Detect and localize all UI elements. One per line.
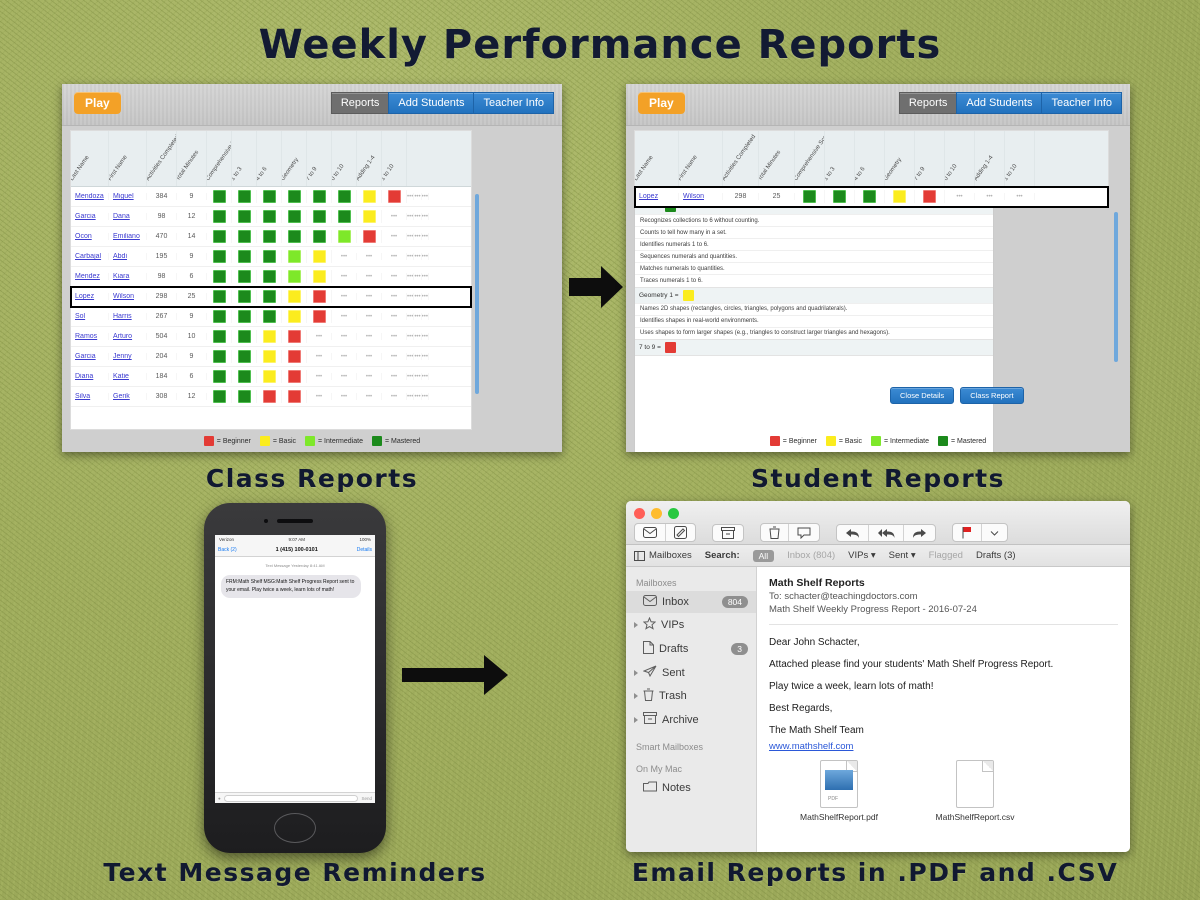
cell-activities: 267 — [147, 313, 177, 320]
column-header-5[interactable]: 1 to 3 — [232, 131, 257, 186]
column-header-8[interactable]: 7 to 9 — [915, 131, 945, 186]
arrow-right-2 — [400, 650, 510, 700]
play-button-2[interactable]: Play — [638, 92, 685, 114]
status-square — [288, 350, 301, 363]
column-header-8[interactable]: 7 to 9 — [307, 131, 332, 186]
skill-cell[interactable]: ••• — [414, 393, 421, 400]
skill-cell[interactable] — [282, 350, 307, 363]
skill-cell[interactable]: ••• — [422, 233, 429, 240]
skill-cell[interactable] — [232, 330, 257, 343]
table-row[interactable]: DianaKatie1846••••••••••••••••••••• — [71, 367, 471, 387]
status-square — [213, 310, 226, 323]
cell-first: Dana — [109, 213, 147, 220]
status-square — [313, 290, 326, 303]
skill-cell[interactable] — [232, 230, 257, 243]
skill-cell[interactable] — [282, 330, 307, 343]
skill-cell[interactable] — [257, 290, 282, 303]
status-square — [313, 190, 326, 203]
nav-add-students[interactable]: Add Students — [388, 92, 473, 114]
skill-cell[interactable] — [232, 250, 257, 263]
skill-cell[interactable] — [257, 350, 282, 363]
skill-cell[interactable]: ••• — [975, 193, 1005, 200]
skill-cell[interactable] — [207, 190, 232, 203]
skill-cell[interactable]: ••• — [422, 333, 429, 340]
skill-cell[interactable] — [282, 250, 307, 263]
nav-reports-2[interactable]: Reports — [899, 92, 957, 114]
mail-toolbar-buttons — [634, 523, 1008, 542]
skill-cell[interactable] — [307, 250, 332, 263]
compose-icon[interactable] — [666, 524, 695, 541]
message-to: To: schacter@teachingdoctors.com — [769, 591, 1118, 602]
table-row[interactable]: GarciaJenny2049••••••••••••••••••••• — [71, 347, 471, 367]
skill-cell[interactable] — [232, 270, 257, 283]
skill-cell[interactable]: ••• — [407, 353, 414, 360]
notes-icon — [643, 781, 657, 795]
skill-cell[interactable]: ••• — [382, 373, 407, 380]
skill-cell[interactable]: ••• — [422, 353, 429, 360]
archive-icon — [643, 712, 657, 727]
column-header-3[interactable]: Total Minutes — [759, 131, 795, 186]
legend-label: = Basic — [839, 438, 862, 445]
skill-cell[interactable]: ••• — [414, 353, 421, 360]
column-header-3[interactable]: Total Minutes — [177, 131, 207, 186]
status-square — [238, 190, 251, 203]
legend-swatch — [204, 436, 214, 446]
skill-cell[interactable] — [915, 190, 945, 203]
skill-cell[interactable] — [232, 210, 257, 223]
column-header-5[interactable]: 1 to 3 — [825, 131, 855, 186]
skill-cell[interactable] — [207, 270, 232, 283]
skill-cell[interactable] — [207, 330, 232, 343]
skill-cell[interactable] — [282, 290, 307, 303]
table-row[interactable]: LopezWilson29825••••••••• — [635, 187, 1108, 207]
student-reports-topbar: Play Reports Add Students Teacher Info — [626, 84, 1130, 126]
skill-cell[interactable]: ••• — [422, 213, 429, 220]
skill-cell[interactable]: ••• — [407, 233, 414, 240]
table-row[interactable]: OconEmilianо47014•••••••••••• — [71, 227, 471, 247]
skill-cell[interactable]: ••• — [382, 253, 407, 260]
filter-inbox[interactable]: Inbox (804) — [787, 550, 835, 561]
class-report-button[interactable]: Class Report — [960, 387, 1023, 404]
sidebar-item-trash[interactable]: Trash — [626, 684, 756, 708]
skill-cell[interactable]: ••• — [1005, 193, 1035, 200]
skill-cell[interactable]: ••• — [407, 193, 414, 200]
skill-cell[interactable]: ••• — [357, 273, 382, 280]
skill-cell[interactable]: ••• — [945, 193, 975, 200]
cell-last: Ocon — [71, 233, 109, 240]
skill-cell[interactable] — [282, 230, 307, 243]
table-row[interactable]: RamosArturo50410••••••••••••••••••••• — [71, 327, 471, 347]
column-header-10[interactable]: Adding 1-4 — [357, 131, 382, 186]
skill-cell[interactable] — [257, 310, 282, 323]
skill-cell[interactable] — [307, 290, 332, 303]
column-header-2[interactable]: Activities Completed — [147, 131, 177, 186]
legend-label: = Mastered — [385, 438, 420, 445]
cell-activities: 308 — [147, 393, 177, 400]
sidebar-item-notes-label: Notes — [662, 782, 691, 794]
column-header-2[interactable]: Activities Completed — [723, 131, 759, 186]
reply-all-icon[interactable] — [869, 525, 904, 541]
skill-cell[interactable]: ••• — [332, 353, 357, 360]
skill-cell[interactable] — [825, 190, 855, 203]
table-row[interactable]: SilvaGerik30812••••••••••••••••••••• — [71, 387, 471, 407]
disclosure-triangle-icon[interactable] — [634, 622, 638, 628]
phone-home-button[interactable] — [274, 813, 316, 843]
skill-cell[interactable] — [307, 210, 332, 223]
filter-drafts[interactable]: Drafts (3) — [976, 550, 1016, 561]
legend-item-0: = Beginner — [204, 436, 251, 446]
legend-item-2: = Intermediate — [305, 436, 363, 446]
skill-cell[interactable] — [257, 230, 282, 243]
table-scrollbar[interactable] — [475, 194, 479, 394]
skill-cell[interactable]: ••• — [382, 333, 407, 340]
skill-cell[interactable] — [232, 350, 257, 363]
maximize-window-button[interactable] — [668, 508, 679, 519]
skill-cell[interactable] — [885, 190, 915, 203]
skill-cell[interactable]: ••• — [414, 253, 421, 260]
cell-last: Ramos — [71, 333, 109, 340]
skill-cell[interactable]: ••• — [382, 233, 407, 240]
column-header-11[interactable]: 1 to 10 — [1005, 131, 1035, 186]
status-square — [833, 190, 846, 203]
skill-cell[interactable] — [257, 250, 282, 263]
skill-cell[interactable]: ••• — [307, 393, 332, 400]
phone-message-bubble: FRM:Math Shelf MSG:Math Shelf Progress R… — [221, 575, 361, 598]
skill-cell[interactable]: ••• — [414, 313, 421, 320]
reply-icon[interactable] — [837, 525, 869, 541]
skill-cell[interactable]: ••• — [422, 293, 429, 300]
status-square — [288, 250, 301, 263]
skill-cell[interactable]: ••• — [382, 393, 407, 400]
skill-group: 4 to 6 =Recognizes collections to 6 with… — [635, 199, 993, 288]
skill-cell[interactable]: ••• — [407, 293, 414, 300]
skill-cell[interactable]: ••• — [382, 213, 407, 220]
skill-cell[interactable]: ••• — [407, 313, 414, 320]
phone-nav-bar: Back (2) 1 (415) 100-0101 Details — [215, 544, 375, 557]
mail-filter-bar: Mailboxes Search: All Inbox (804) VIPs ▾… — [626, 545, 1130, 567]
drafts-icon — [643, 641, 654, 657]
skill-cell[interactable] — [232, 370, 257, 383]
status-square — [213, 370, 226, 383]
detail-buttons: Close Details Class Report — [890, 387, 1024, 404]
skill-cell[interactable]: ••• — [422, 273, 429, 280]
minimize-window-button[interactable] — [651, 508, 662, 519]
skill-cell[interactable]: ••• — [422, 393, 429, 400]
skill-cell[interactable] — [282, 270, 307, 283]
skill-cell[interactable] — [232, 390, 257, 403]
skill-cell[interactable]: ••• — [382, 293, 407, 300]
cell-minutes: 9 — [177, 353, 207, 360]
column-header-label: Comprehensive Score — [795, 131, 825, 182]
cell-activities: 184 — [147, 373, 177, 380]
status-square — [288, 390, 301, 403]
attachment-csv[interactable]: MathShelfReport.csv — [931, 760, 1019, 822]
skill-group-status-square — [665, 342, 676, 353]
cell-minutes: 9 — [177, 313, 207, 320]
disclosure-triangle-icon[interactable] — [634, 693, 638, 699]
column-header-10[interactable]: Adding 1-4 — [975, 131, 1005, 186]
inbox-icon — [643, 595, 657, 609]
legend-label: = Mastered — [951, 438, 986, 445]
skill-cell[interactable]: ••• — [307, 353, 332, 360]
sidebar-item-vips[interactable]: VIPs — [626, 613, 756, 637]
close-details-button[interactable]: Close Details — [890, 387, 954, 404]
skill-cell[interactable]: ••• — [422, 193, 429, 200]
sidebar-item-drafts[interactable]: Drafts3 — [626, 637, 756, 661]
skill-cell[interactable]: ••• — [382, 313, 407, 320]
phone-conversation-title: 1 (415) 100-0101 — [276, 547, 318, 553]
search-label[interactable]: Search: — [705, 550, 740, 561]
skill-cell[interactable] — [257, 370, 282, 383]
filter-all[interactable]: All — [753, 550, 774, 562]
skill-cell[interactable] — [232, 190, 257, 203]
table-row[interactable]: MendezKiara986•••••••••••••••••• — [71, 267, 471, 287]
skill-cell[interactable] — [357, 230, 382, 243]
skill-cell[interactable] — [257, 270, 282, 283]
skill-cell[interactable] — [207, 210, 232, 223]
skill-cell[interactable] — [332, 230, 357, 243]
attachment-pdf[interactable]: PDFMathShelfReport.pdf — [795, 760, 883, 822]
skill-cell[interactable]: ••• — [414, 213, 421, 220]
get-mail-icon[interactable] — [635, 524, 666, 541]
skill-cell[interactable]: ••• — [357, 253, 382, 260]
column-header-6[interactable]: 4 to 6 — [855, 131, 885, 186]
status-square — [263, 290, 276, 303]
table-row[interactable]: GarciaDana9812•••••••••••• — [71, 207, 471, 227]
skill-cell[interactable]: ••• — [407, 333, 414, 340]
column-header-4[interactable]: Comprehensive Score — [207, 131, 232, 186]
sidebar-item-label: VIPs — [661, 619, 684, 631]
message-from: Math Shelf Reports — [769, 577, 1118, 589]
sidebar-item-sent[interactable]: Sent — [626, 661, 756, 684]
column-header-label: 1 to 10 — [1005, 164, 1019, 182]
column-header-label: 7 to 9 — [307, 166, 319, 182]
table-row[interactable]: CarbajalAbdi1959•••••••••••••••••• — [71, 247, 471, 267]
trash-icon[interactable] — [761, 524, 789, 541]
column-header-label: First Name — [679, 155, 699, 182]
skill-cell[interactable] — [257, 210, 282, 223]
phone-send-button[interactable]: Send — [361, 796, 372, 801]
status-square — [263, 230, 276, 243]
disclosure-triangle-icon[interactable] — [634, 670, 638, 676]
camera-icon[interactable]: ● — [218, 796, 221, 801]
skill-cell[interactable] — [357, 190, 382, 203]
skill-cell[interactable] — [257, 390, 282, 403]
column-header-label: Activities Completed — [147, 134, 177, 182]
skill-cell[interactable] — [332, 210, 357, 223]
column-header-label: Total Minutes — [759, 150, 782, 182]
skill-cell[interactable]: ••• — [407, 373, 414, 380]
phone-back-button[interactable]: Back (2) — [218, 547, 237, 553]
skill-cell[interactable]: ••• — [422, 313, 429, 320]
cell-last: Diana — [71, 373, 109, 380]
detail-scrollbar[interactable] — [1114, 212, 1118, 362]
message-greeting: Dear John Schacter, — [769, 637, 1118, 648]
sidebar-item-notes[interactable]: Notes — [626, 777, 756, 799]
skill-cell[interactable]: ••• — [382, 273, 407, 280]
skill-cell[interactable]: ••• — [382, 353, 407, 360]
skill-cell[interactable] — [207, 250, 232, 263]
forward-icon[interactable] — [904, 525, 935, 541]
column-header-7[interactable]: Geometry — [885, 131, 915, 186]
skill-line: Sequences numerals and quantities. — [635, 250, 993, 262]
skill-cell[interactable]: ••• — [407, 273, 414, 280]
skill-cell[interactable]: ••• — [307, 373, 332, 380]
skill-cell[interactable] — [282, 190, 307, 203]
column-header-label: Adding 1-4 — [975, 155, 995, 182]
column-header-7[interactable]: Geometry — [282, 131, 307, 186]
column-header-1[interactable]: First Name — [109, 131, 147, 186]
skill-cell[interactable]: ••• — [407, 253, 414, 260]
skill-cell[interactable] — [232, 290, 257, 303]
table-row[interactable]: LopezWilson29825•••••••••••••••••• — [71, 287, 471, 307]
column-header-0[interactable]: Last Name — [71, 131, 109, 186]
skill-cell[interactable] — [357, 210, 382, 223]
phone-time: 9:07 AM — [288, 537, 305, 542]
skill-cell[interactable] — [795, 190, 825, 203]
skill-cell[interactable]: ••• — [332, 313, 357, 320]
skill-cell[interactable] — [307, 310, 332, 323]
skill-cell[interactable] — [282, 310, 307, 323]
skill-cell[interactable] — [207, 310, 232, 323]
phone-battery: 100% — [359, 537, 371, 542]
nav-add-students-2[interactable]: Add Students — [956, 92, 1041, 114]
skill-cell[interactable] — [257, 330, 282, 343]
nav-teacher-info[interactable]: Teacher Info — [473, 92, 554, 114]
skill-cell[interactable]: ••• — [422, 253, 429, 260]
flag-dropdown-icon[interactable] — [982, 524, 1007, 541]
skill-cell[interactable]: ••• — [414, 293, 421, 300]
skill-cell[interactable] — [232, 310, 257, 323]
status-square — [288, 290, 301, 303]
skill-cell[interactable]: ••• — [414, 333, 421, 340]
filter-vips[interactable]: VIPs ▾ — [848, 550, 875, 561]
skill-cell[interactable]: ••• — [332, 273, 357, 280]
filter-sent[interactable]: Sent ▾ — [889, 550, 916, 561]
skill-cell[interactable]: ••• — [332, 293, 357, 300]
skill-cell[interactable] — [207, 230, 232, 243]
phone-input-bar[interactable]: ● Send — [215, 792, 375, 803]
skill-cell[interactable]: ••• — [357, 313, 382, 320]
skill-cell[interactable]: ••• — [414, 273, 421, 280]
skill-cell[interactable]: ••• — [332, 333, 357, 340]
status-square — [238, 350, 251, 363]
status-square — [263, 190, 276, 203]
legend-swatch — [305, 436, 315, 446]
student-reports-legend: = Beginner= Basic= Intermediate= Mastere… — [626, 436, 1130, 446]
status-square — [238, 330, 251, 343]
message-attachments: PDFMathShelfReport.pdfMathShelfReport.cs… — [769, 760, 1118, 822]
skill-cell[interactable]: ••• — [332, 253, 357, 260]
skill-cell[interactable] — [207, 370, 232, 383]
column-header-11[interactable]: 1 to 10 — [382, 131, 407, 186]
phone-text-input[interactable] — [224, 795, 359, 802]
status-square — [288, 310, 301, 323]
skill-cell[interactable] — [307, 230, 332, 243]
cell-last: Lopez — [71, 293, 109, 300]
skill-cell[interactable] — [282, 390, 307, 403]
skill-cell[interactable]: ••• — [357, 293, 382, 300]
column-header-1[interactable]: First Name — [679, 131, 723, 186]
skill-cell[interactable]: ••• — [357, 393, 382, 400]
skill-cell[interactable] — [207, 390, 232, 403]
skill-cell[interactable]: ••• — [332, 373, 357, 380]
nav-reports[interactable]: Reports — [331, 92, 389, 114]
class-reports-nav: Reports Add Students Teacher Info — [331, 92, 554, 114]
status-square — [238, 390, 251, 403]
skill-cell[interactable] — [282, 370, 307, 383]
filter-flagged[interactable]: Flagged — [929, 550, 963, 561]
mailbox-compose-group — [634, 523, 696, 542]
skill-cell[interactable] — [382, 190, 407, 203]
column-header-6[interactable]: 4 to 6 — [257, 131, 282, 186]
sidebar-item-archive[interactable]: Archive — [626, 708, 756, 731]
skill-cell[interactable]: ••• — [407, 213, 414, 220]
legend-label: = Beginner — [783, 438, 817, 445]
selected-student-row-wrap: LopezWilson29825••••••••• — [635, 187, 1108, 207]
attachment-filename: MathShelfReport.pdf — [795, 812, 883, 822]
cell-minutes: 9 — [177, 253, 207, 260]
skill-cell[interactable]: ••• — [414, 193, 421, 200]
skill-cell[interactable]: ••• — [414, 233, 421, 240]
skill-cell[interactable]: ••• — [414, 373, 421, 380]
document-icon: PDF — [820, 760, 858, 808]
skill-cell[interactable] — [332, 190, 357, 203]
skill-cell[interactable] — [282, 210, 307, 223]
status-square — [213, 290, 226, 303]
flag-icon[interactable] — [953, 524, 982, 541]
skill-cell[interactable] — [207, 290, 232, 303]
skill-cell[interactable]: ••• — [357, 373, 382, 380]
table-body: MendozaMiguel3849•••••••••GarciaDana9812… — [71, 187, 471, 407]
skill-cell[interactable]: ••• — [357, 333, 382, 340]
skill-cell[interactable] — [307, 190, 332, 203]
junk-icon[interactable] — [789, 524, 819, 541]
nav-teacher-info-2[interactable]: Teacher Info — [1041, 92, 1122, 114]
column-header-9[interactable]: 0 to 10 — [332, 131, 357, 186]
skill-cell[interactable]: ••• — [307, 333, 332, 340]
column-header-9[interactable]: 0 to 10 — [945, 131, 975, 186]
mailboxes-toggle[interactable]: Mailboxes — [634, 550, 692, 561]
phone-details-button[interactable]: Details — [357, 547, 372, 553]
skill-cell[interactable]: ••• — [332, 393, 357, 400]
sidebar-item-inbox[interactable]: Inbox804 — [626, 591, 756, 613]
skill-cell[interactable] — [257, 190, 282, 203]
table-row[interactable]: SolHarris2679•••••••••••••••••• — [71, 307, 471, 327]
flag-group — [952, 523, 1008, 542]
skill-cell[interactable]: ••• — [422, 373, 429, 380]
message-website-link[interactable]: www.mathshelf.com — [769, 741, 853, 752]
status-square — [338, 190, 351, 203]
disclosure-triangle-icon[interactable] — [634, 717, 638, 723]
skill-cell[interactable]: ••• — [357, 353, 382, 360]
skill-cell[interactable] — [855, 190, 885, 203]
skill-cell[interactable]: ••• — [407, 393, 414, 400]
column-header-4[interactable]: Comprehensive Score — [795, 131, 825, 186]
archive-icon[interactable] — [713, 525, 743, 541]
play-button[interactable]: Play — [74, 92, 121, 114]
skill-cell[interactable] — [207, 350, 232, 363]
close-window-button[interactable] — [634, 508, 645, 519]
skill-group-header: 7 to 9 = — [635, 340, 993, 355]
table-row[interactable]: MendozaMiguel3849••••••••• — [71, 187, 471, 207]
phone-status-bar: Verizon 9:07 AM 100% — [215, 535, 375, 544]
sidebar-icon — [634, 551, 645, 561]
column-header-label: First Name — [109, 155, 129, 182]
skill-cell[interactable] — [307, 270, 332, 283]
column-header-0[interactable]: Last Name — [635, 131, 679, 186]
cell-activities: 195 — [147, 253, 177, 260]
